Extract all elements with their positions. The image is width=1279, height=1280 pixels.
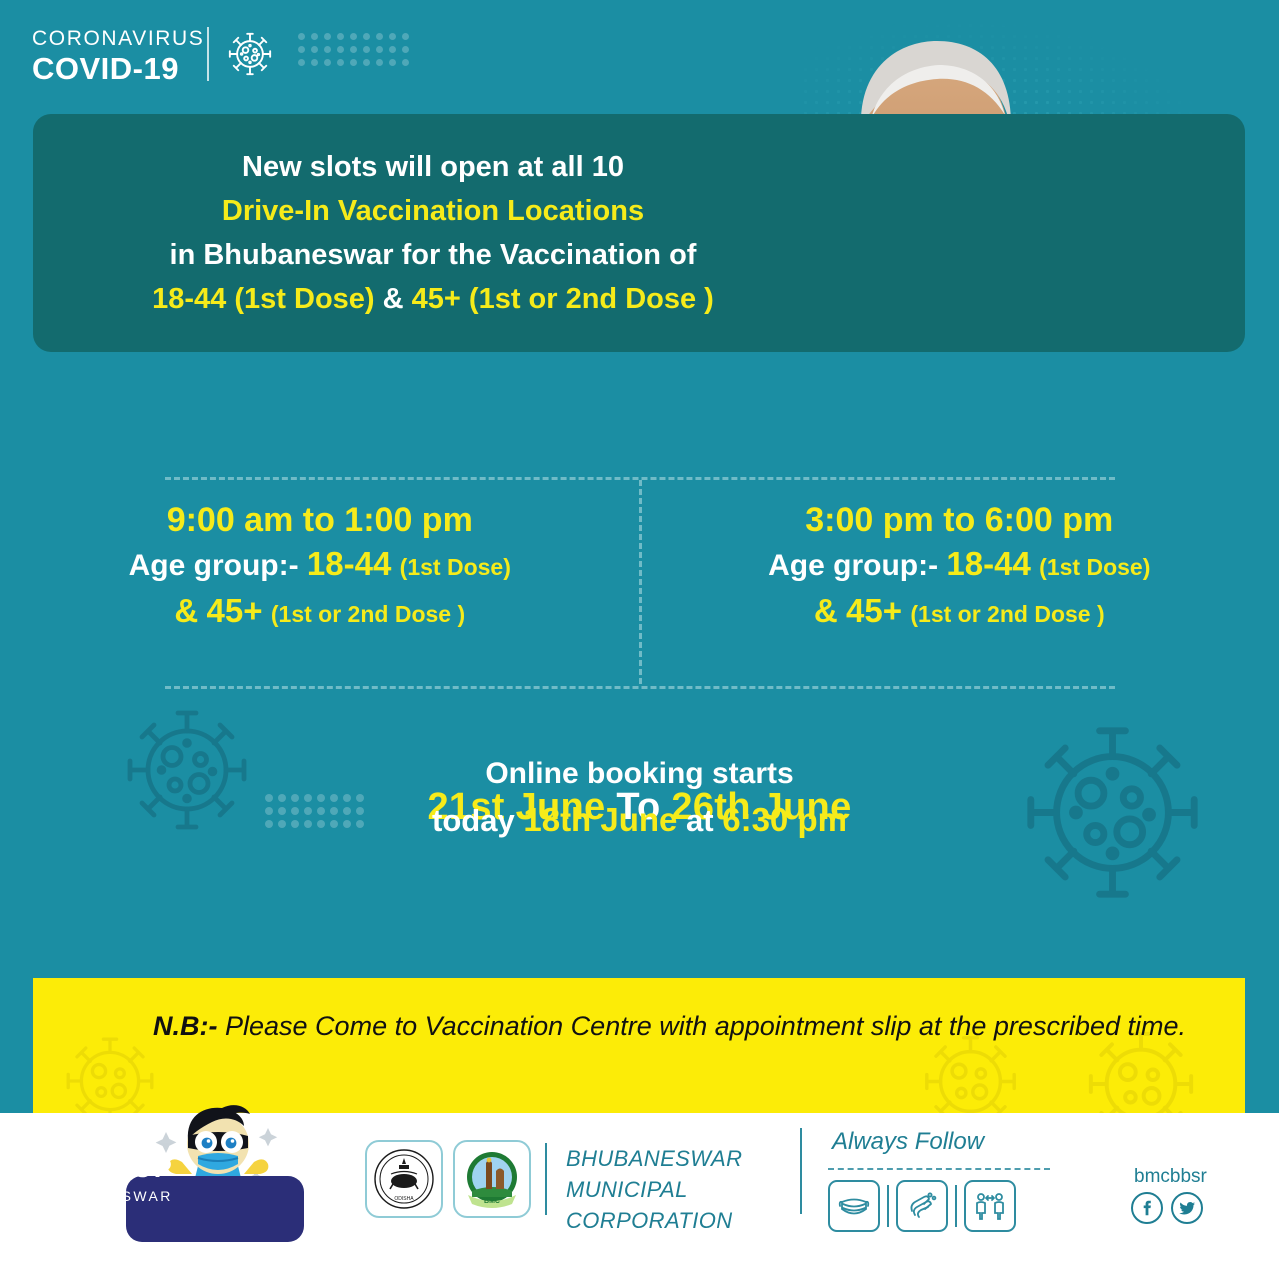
always-follow-title: Always Follow (832, 1128, 984, 1156)
booking-time: 6:30 pm (722, 801, 847, 838)
headline-line-4: 18-44 (1st Dose) & 45+ (1st or 2nd Dose … (152, 277, 714, 321)
slot-evening-age-primary-note: (1st Dose) (1039, 554, 1150, 580)
organization-line-3: CORPORATION (566, 1205, 742, 1236)
headline-text-block: New slots will open at all 10 Drive-In V… (33, 114, 833, 352)
footer-divider-bmc (545, 1143, 547, 1215)
maskup-subtitle: BHUBANESWAR (0, 1188, 210, 1204)
dot-grid-icon (298, 33, 415, 72)
face-mask-icon (828, 1180, 880, 1232)
organization-name: BHUBANESWAR MUNICIPAL CORPORATION (566, 1143, 742, 1237)
social-handle: bmcbbsr (1134, 1166, 1207, 1188)
organization-line-2: MUNICIPAL (566, 1174, 742, 1205)
bmc-crest-emblem: BMC (453, 1140, 531, 1218)
icon-separator (887, 1185, 889, 1227)
slot-columns: 9:00 am to 1:00 pm Age group:- 18-44 (1s… (0, 500, 1279, 680)
slot-evening-age-label: Age group:- (768, 549, 938, 582)
booking-notice: Online booking starts today 18th June at… (0, 752, 1279, 843)
slot-evening-age-line-1: Age group:- 18-44 (1st Dose) (640, 541, 1279, 588)
headline-dose-45-plus: 45+ (1st or 2nd Dose ) (412, 283, 714, 315)
note-prefix: N.B:- (153, 1011, 217, 1041)
virus-icon (222, 25, 278, 83)
slot-morning-age-line-2: & 45+ (1st or 2nd Dose ) (0, 588, 640, 635)
slot-morning-age-line-1: Age group:- 18-44 (1st Dose) (0, 541, 640, 588)
virus-watermark-nb-left (55, 1026, 165, 1113)
slot-evening-time: 3:00 pm to 6:00 pm (640, 500, 1279, 541)
icon-separator (955, 1185, 957, 1227)
slot-evening-age-primary: 18-44 (946, 545, 1030, 582)
maskup-title: MASK-UP (0, 1153, 210, 1184)
headline-line-1: New slots will open at all 10 (242, 145, 624, 189)
booking-line-2: today 18th June at 6:30 pm (0, 796, 1279, 844)
odisha-government-emblem: ODISHA (365, 1140, 443, 1218)
note-text: N.B:- Please Come to Vaccination Centre … (153, 1006, 1213, 1047)
headline-ampersand: & (383, 283, 404, 315)
brand-lockup: CORONAVIRUS COVID-19 (32, 28, 204, 84)
hand-wash-icon (896, 1180, 948, 1232)
slot-evening-age-secondary-note: (1st or 2nd Dose ) (910, 601, 1104, 627)
slot-morning: 9:00 am to 1:00 pm Age group:- 18-44 (1s… (0, 500, 640, 680)
covid-19-label: COVID-19 (32, 53, 204, 84)
slot-evening-age-secondary: 45+ (846, 592, 902, 629)
headline-line-2: Drive-In Vaccination Locations (222, 189, 644, 233)
slot-morning-age-secondary: 45+ (207, 592, 263, 629)
always-follow-icons (828, 1180, 1016, 1232)
slot-evening: 3:00 pm to 6:00 pm Age group:- 18-44 (1s… (640, 500, 1279, 680)
facebook-icon[interactable] (1131, 1192, 1163, 1224)
divider-bottom (165, 686, 1115, 689)
date-banner: 21st June To 26th June (0, 392, 1279, 454)
bmc-crest-caption: BMC (484, 1198, 500, 1205)
maskup-badge (126, 1176, 304, 1242)
organization-line-1: BHUBANESWAR (566, 1143, 742, 1174)
slot-morning-age-primary: 18-44 (307, 545, 391, 582)
booking-line-1: Online booking starts (0, 752, 1279, 796)
social-distancing-icon (964, 1180, 1016, 1232)
slot-morning-age-prefix: & (174, 592, 198, 629)
social-icons (1131, 1192, 1203, 1224)
svg-text:ODISHA: ODISHA (394, 1196, 414, 1202)
headline-dose-18-44: 18-44 (1st Dose) (152, 283, 374, 315)
header-divider (207, 27, 209, 81)
footer-divider-always-follow (800, 1128, 802, 1214)
slot-morning-age-label: Age group:- (129, 549, 299, 582)
note-banner: N.B:- Please Come to Vaccination Centre … (33, 978, 1245, 1113)
booking-today-word: today (432, 803, 515, 838)
slot-morning-age-primary-note: (1st Dose) (400, 554, 511, 580)
always-follow-dash (828, 1168, 1050, 1170)
slot-morning-age-secondary-note: (1st or 2nd Dose ) (271, 601, 465, 627)
note-body: Please Come to Vaccination Centre with a… (225, 1011, 1186, 1041)
slot-morning-time: 9:00 am to 1:00 pm (0, 500, 640, 541)
slot-evening-age-line-2: & 45+ (1st or 2nd Dose ) (640, 588, 1279, 635)
slot-evening-age-prefix: & (814, 592, 838, 629)
footer-edge-right (1245, 1090, 1279, 1113)
booking-date: 18th June (523, 801, 677, 838)
booking-at-word: at (686, 803, 714, 838)
headline-line-3: in Bhubaneswar for the Vaccination of (170, 233, 697, 277)
footer-edge-left (0, 1090, 33, 1113)
coronavirus-label: CORONAVIRUS (32, 28, 204, 49)
twitter-icon[interactable] (1171, 1192, 1203, 1224)
emblem-group: ODISHA BMC (365, 1140, 531, 1218)
